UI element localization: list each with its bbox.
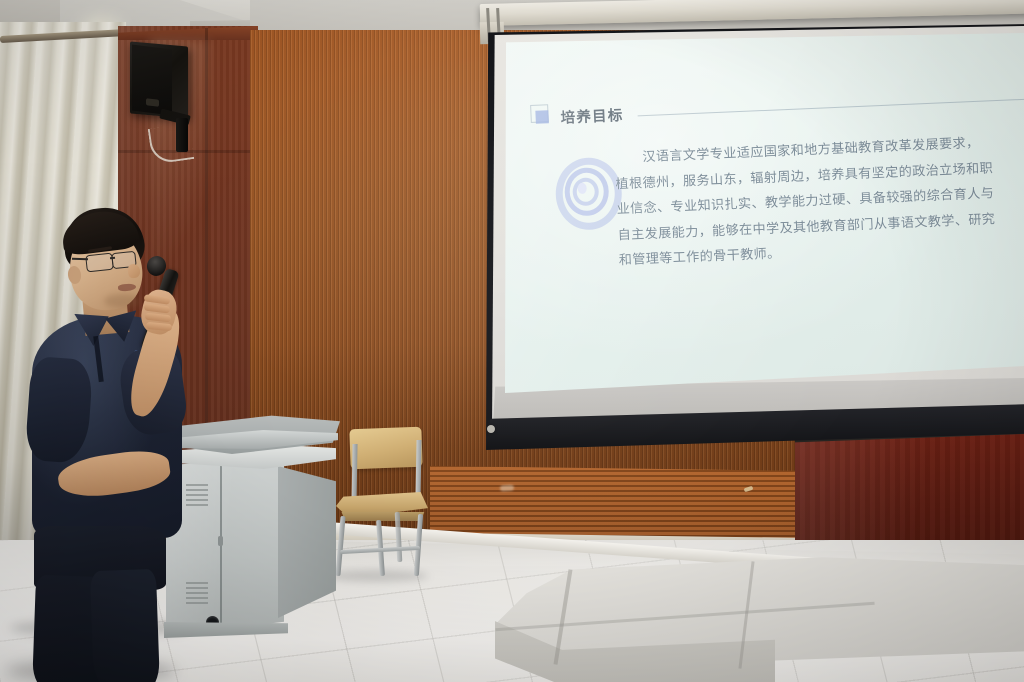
chair-shadow <box>326 570 428 582</box>
target-bullseye-icon <box>555 157 608 216</box>
slide-body-line-text: 和管理等工作的骨干教师。 <box>619 246 781 268</box>
slide-title-row: 培养目标 <box>530 87 1024 129</box>
lectern-door-seam <box>220 466 222 630</box>
lectern-side-panel <box>278 466 336 618</box>
screen-weight-knob <box>487 425 495 433</box>
presenter-leg <box>90 569 160 682</box>
chair-leg <box>414 514 423 576</box>
slide-body-text: 汉语言文学专业适应国家和地方基础教育改革发展要求， 植根德州，服务山东，辐射周边… <box>614 129 1023 274</box>
wall-scuff-mark <box>500 485 514 492</box>
lectern-door-latch <box>218 536 223 546</box>
slide-content: 培养目标 汉语言文学专业适应国家和地方基础教育改革发展要求， 植根德州，服务山东… <box>505 11 1024 393</box>
loudspeaker-port <box>146 98 159 107</box>
lecture-hall-photograph: 培养目标 汉语言文学专业适应国家和地方基础教育改革发展要求， 植根德州，服务山东… <box>0 0 1024 682</box>
slide-title: 培养目标 <box>560 104 624 128</box>
slide-title-rule <box>637 99 1024 117</box>
bullseye-center <box>578 183 587 194</box>
eyeglasses-icon <box>85 253 114 273</box>
chair-backrest <box>349 427 422 469</box>
square-marker-fill <box>535 110 549 124</box>
chair-seat-apron <box>338 512 426 521</box>
presenter <box>18 208 218 682</box>
stage-platform <box>495 555 1024 682</box>
square-marker-icon <box>530 108 553 129</box>
presenter-chin-shadow <box>104 294 140 308</box>
